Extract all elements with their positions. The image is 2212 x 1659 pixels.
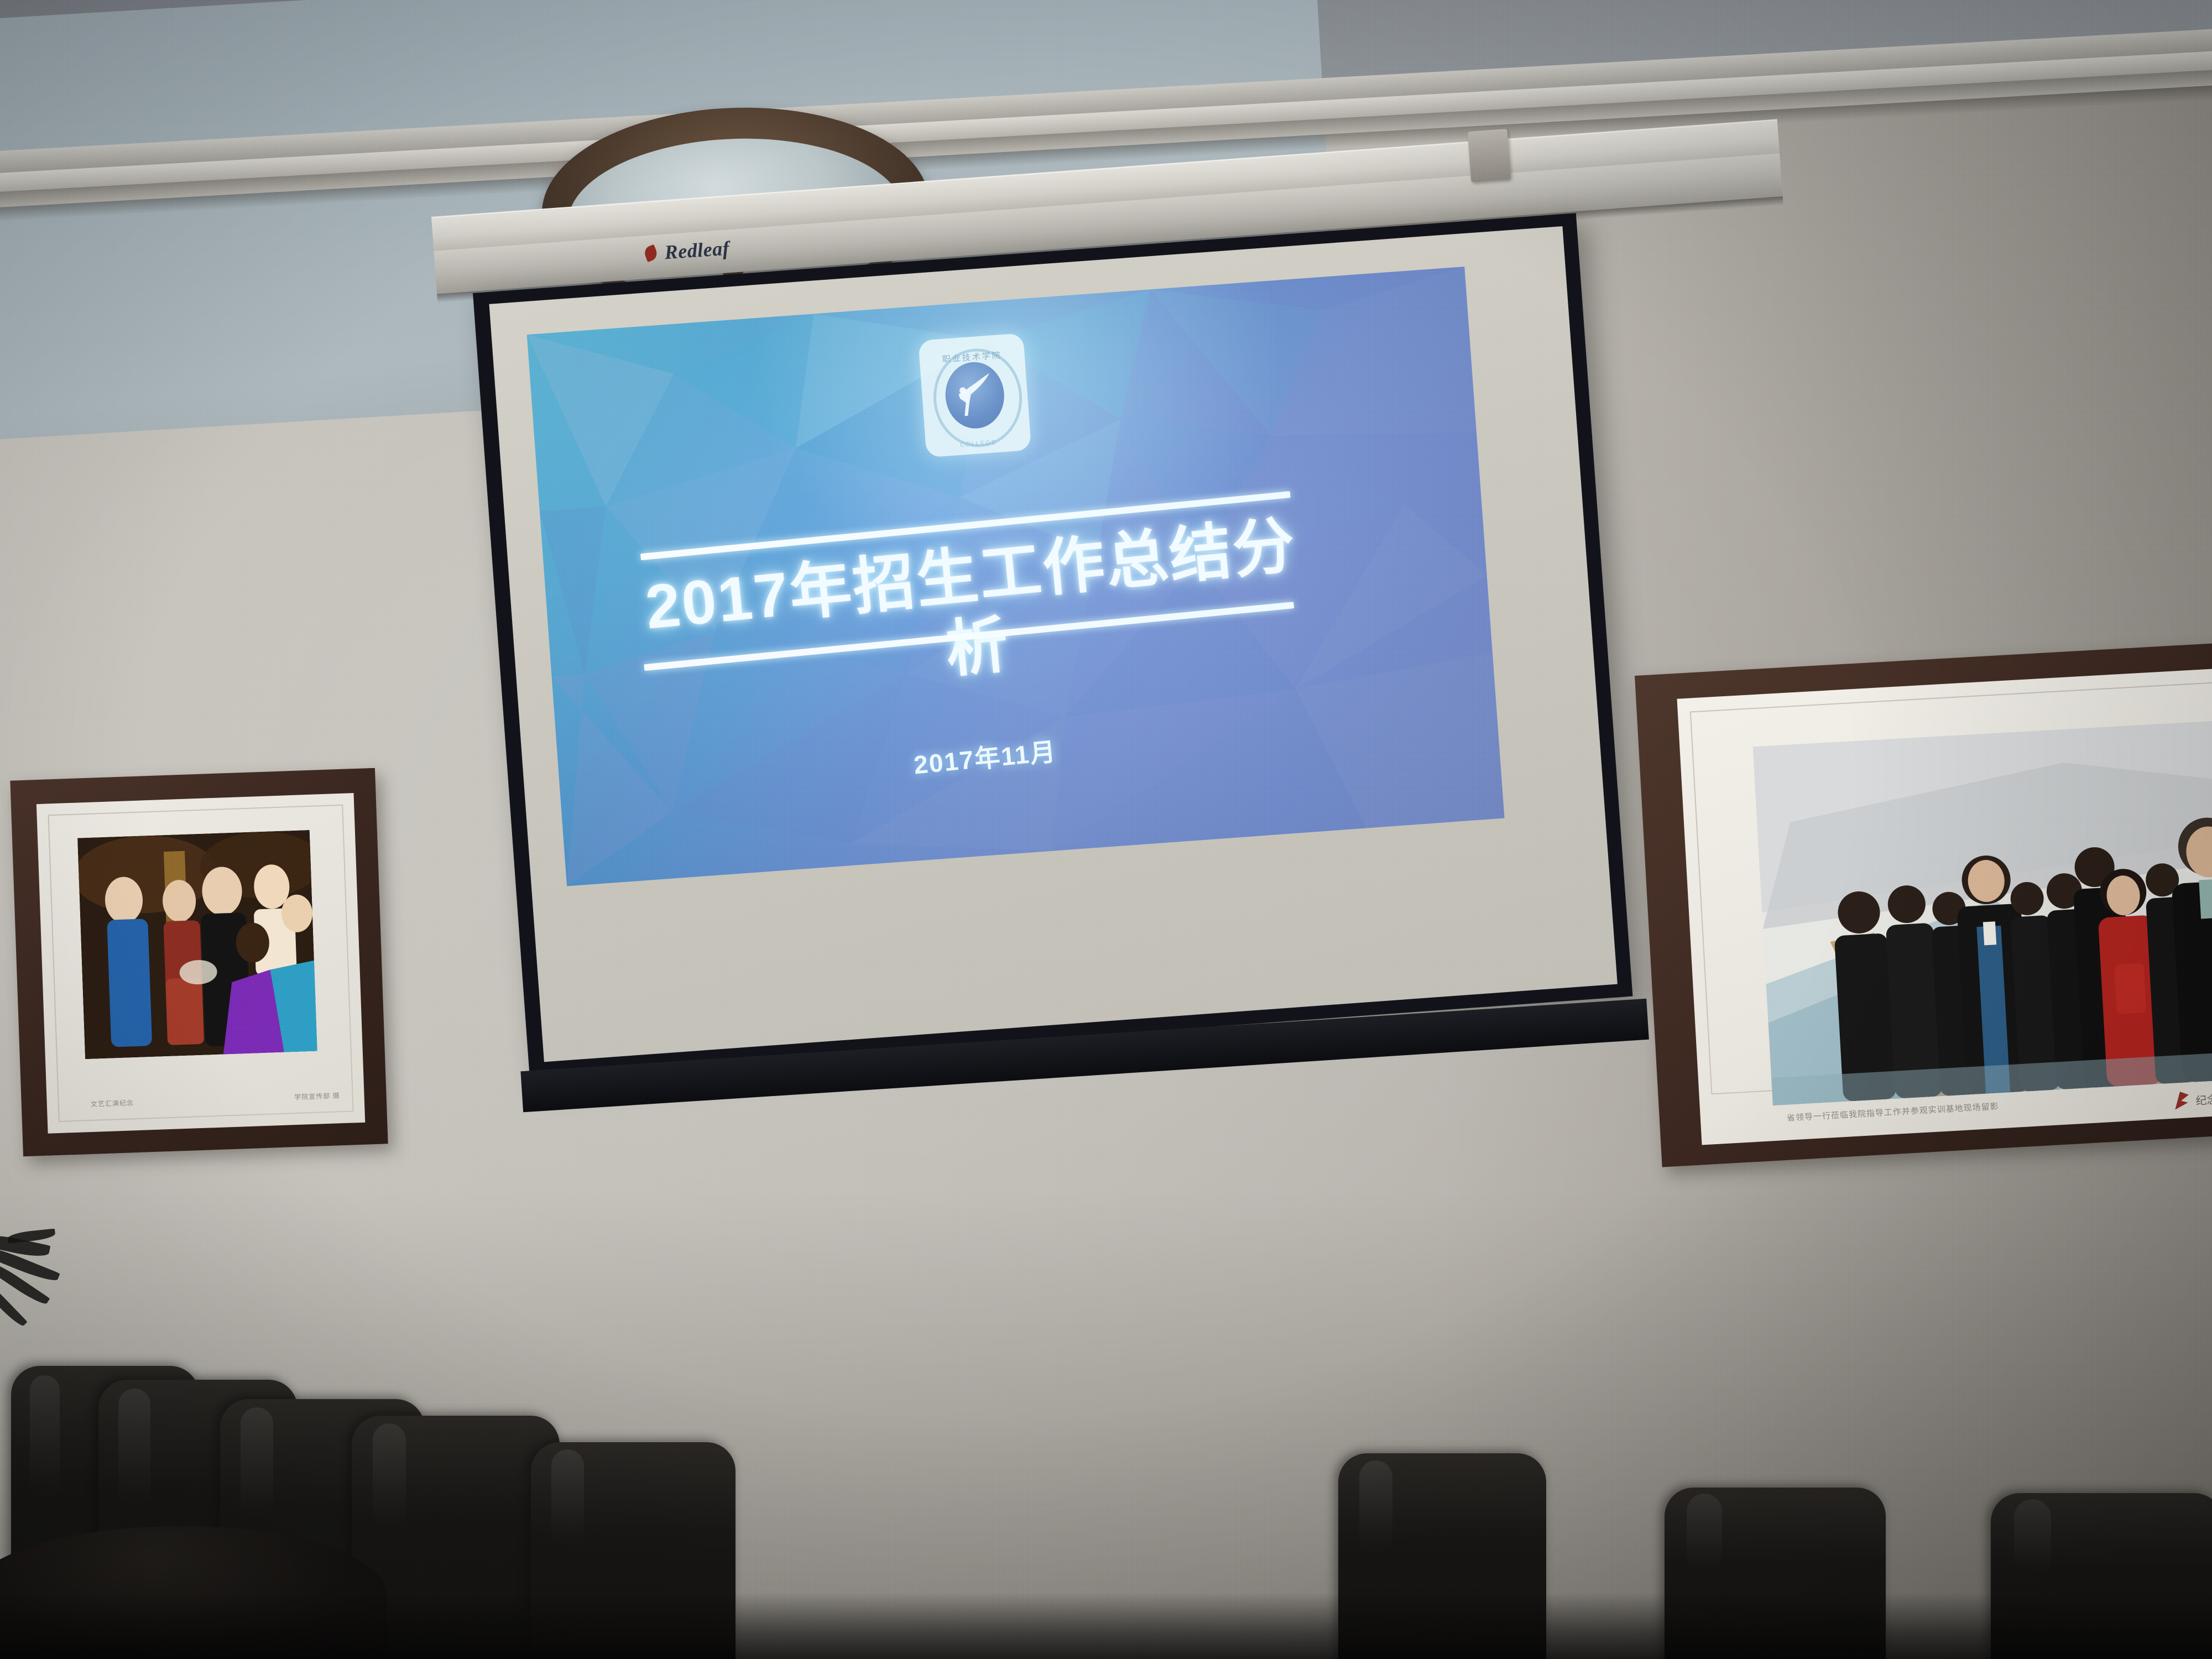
- framed-photo-officials-visit: 省领导一行莅临我院指导工作并参观实训基地现场留影 纪念: [1635, 641, 2212, 1167]
- emblem-figure-icon: [952, 367, 997, 421]
- red-leaf-icon: [643, 244, 659, 262]
- wall-bracket: [1468, 129, 1511, 182]
- brand-name-label: Redleaf: [664, 237, 730, 264]
- red-swoosh-icon: [2174, 1091, 2190, 1109]
- photo-content: [1753, 718, 2212, 1105]
- photo-caption-left: 文艺汇演纪念: [91, 1098, 134, 1109]
- framed-photo-ethnic-performance: 文艺汇演纪念 学院宣传部 摄: [10, 768, 388, 1157]
- photo-caption-right: 学院宣传部 摄: [294, 1091, 340, 1102]
- projected-slide: 职业技术学院 COLLEGE 2017年招生工作总结分析 2017年11月: [527, 267, 1505, 886]
- projection-screen: 职业技术学院 COLLEGE 2017年招生工作总结分析 2017年11月: [473, 213, 1633, 1076]
- photo-content: [77, 830, 317, 1059]
- photo-studio-logo: 纪念: [2174, 1089, 2212, 1109]
- school-emblem-icon: 职业技术学院 COLLEGE: [918, 333, 1031, 457]
- foreground-shadow: [0, 1593, 2212, 1659]
- wall-shading-bottom: [0, 1189, 2212, 1659]
- photo-abstract-figures: [77, 830, 317, 1059]
- room-photo-scene: Redleaf: [0, 0, 2212, 1659]
- photo-studio-label: 纪念: [2195, 1091, 2212, 1108]
- photo-group-on-escalator: [1753, 718, 2212, 1105]
